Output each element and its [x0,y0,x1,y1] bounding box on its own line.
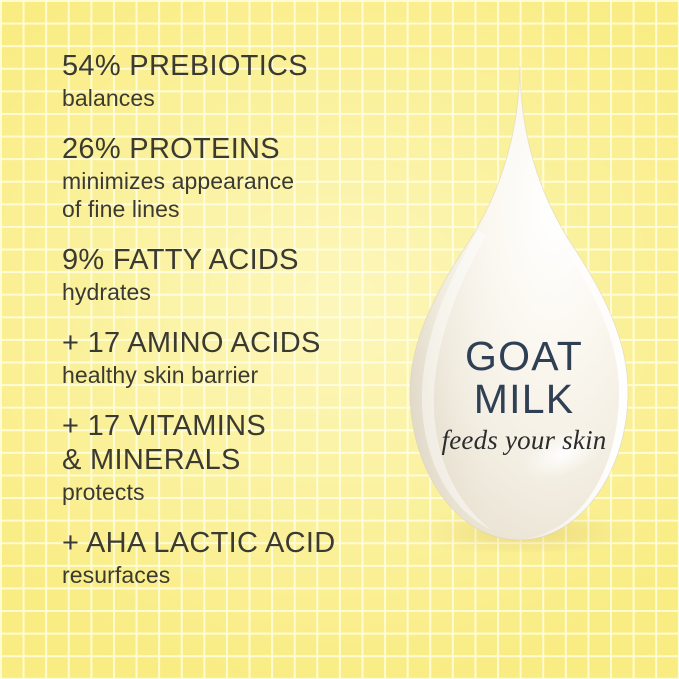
fact-title: + AHA LACTIC ACID [62,526,392,560]
fact-item: 54% PREBIOTICS balances [62,49,392,112]
milk-droplet-icon [388,62,660,552]
fact-description: protects [62,478,392,506]
fact-description: hydrates [62,278,392,306]
fact-description: healthy skin barrier [62,361,392,389]
fact-title: + 17 VITAMINS & MINERALS [62,409,392,477]
ingredient-fact-list: 54% PREBIOTICS balances 26% PROTEINS min… [62,49,392,589]
fact-title: 9% FATTY ACIDS [62,243,392,277]
fact-item: 9% FATTY ACIDS hydrates [62,243,392,306]
fact-title: 26% PROTEINS [62,132,392,166]
fact-item: 26% PROTEINS minimizes appearance of fin… [62,132,392,223]
fact-description: resurfaces [62,561,392,589]
fact-item: + 17 VITAMINS & MINERALS protects [62,409,392,506]
fact-title: 54% PREBIOTICS [62,49,392,83]
fact-item: + 17 AMINO ACIDS healthy skin barrier [62,326,392,389]
milk-droplet-graphic [388,62,660,552]
fact-description: minimizes appearance of fine lines [62,167,392,223]
fact-item: + AHA LACTIC ACID resurfaces [62,526,392,589]
fact-title: + 17 AMINO ACIDS [62,326,392,360]
fact-description: balances [62,84,392,112]
goat-milk-infographic: 54% PREBIOTICS balances 26% PROTEINS min… [0,0,679,679]
